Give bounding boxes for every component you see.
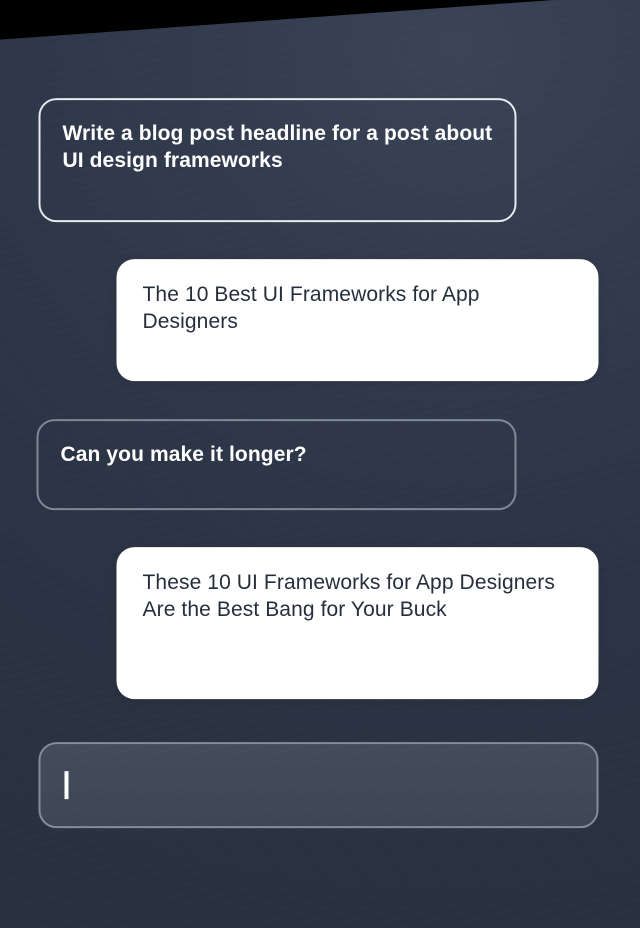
- text-caret: [66, 771, 68, 799]
- chat-message-text: The 10 Best UI Frameworks for App Design…: [142, 281, 572, 336]
- message-input[interactable]: [38, 742, 598, 828]
- app-content: Write a blog post headline for a post ab…: [0, 0, 636, 928]
- screen: Write a blog post headline for a post ab…: [0, 0, 640, 928]
- message-input-value[interactable]: [64, 771, 572, 799]
- chat-message-text: Can you make it longer?: [60, 441, 492, 468]
- chat-message-assistant-1[interactable]: The 10 Best UI Frameworks for App Design…: [116, 259, 598, 381]
- chat-message-assistant-2[interactable]: These 10 UI Frameworks for App Designers…: [116, 547, 598, 699]
- chat-message-text: Write a blog post headline for a post ab…: [62, 120, 492, 175]
- chat-message-text: These 10 UI Frameworks for App Designers…: [142, 569, 572, 624]
- chat-message-user-1[interactable]: Write a blog post headline for a post ab…: [38, 98, 516, 222]
- app-surface: Write a blog post headline for a post ab…: [0, 0, 640, 928]
- chat-message-user-2[interactable]: Can you make it longer?: [36, 419, 516, 510]
